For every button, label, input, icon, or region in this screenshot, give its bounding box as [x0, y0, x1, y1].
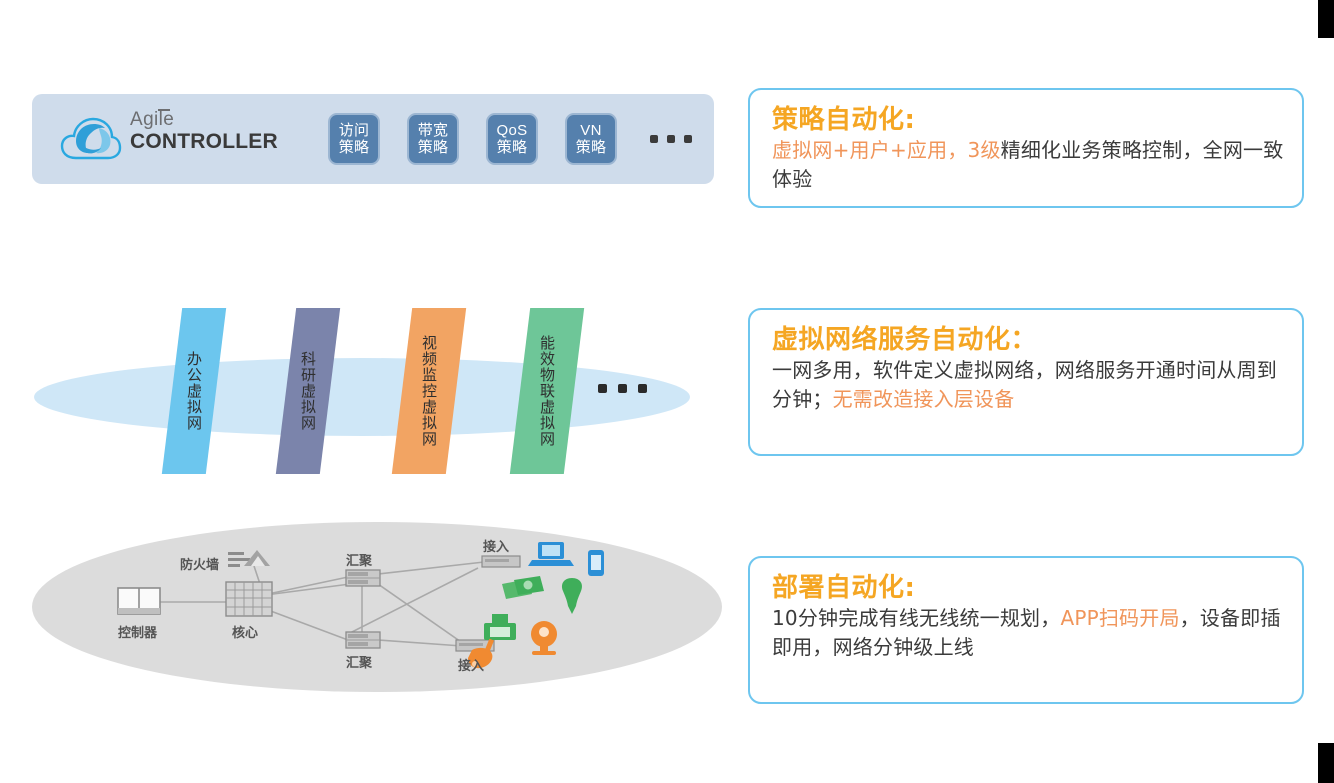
policy-label-line1: 访问 — [339, 122, 370, 139]
right-edge-bar-top — [1318, 0, 1334, 38]
card-body-plain-1: 10分钟完成有线无线统一规划， — [772, 606, 1060, 630]
vn-slice-label: 办公虚拟网 — [185, 351, 203, 431]
webcam-icon — [531, 621, 557, 655]
access-switch-upper-icon — [482, 556, 520, 567]
topology-links-and-devices — [32, 522, 722, 692]
virtual-network-slices-diagram: 办公虚拟网 科研虚拟网 视频监控虚拟网 能效物联虚拟网 — [20, 296, 720, 496]
virtual-network-service-automation-card: 虚拟网络服务自动化： 一网多用，软件定义虚拟网络，网络服务开通时间从周到分钟；无… — [748, 308, 1304, 456]
right-edge-bar-bottom — [1318, 743, 1334, 783]
aggregation-switch-lower-icon — [346, 632, 380, 648]
policy-button-row: 访问 策略 带宽 策略 QoS 策略 VN 策略 — [328, 110, 692, 168]
vn-slice-video-surveillance: 视频监控虚拟网 — [392, 308, 466, 474]
slide-canvas: Agile CONTROLLER 访问 策略 带宽 策略 QoS 策略 VN 策… — [0, 0, 1334, 783]
deployment-automation-card: 部署自动化: 10分钟完成有线无线统一规划，APP扫码开局，设备即插即用，网络分… — [748, 556, 1304, 704]
aggregation-switch-upper-icon — [346, 570, 380, 586]
dot — [618, 384, 627, 393]
policy-label-line2: 策略 — [497, 139, 528, 156]
macron-accent — [158, 109, 170, 111]
policy-automation-card: 策略自动化: 虚拟网+用户+应用，3级精细化业务策略控制，全网一致体验 — [748, 88, 1304, 208]
topology-label-firewall: 防火墙 — [180, 554, 219, 573]
agile-controller-bar: Agile CONTROLLER 访问 策略 带宽 策略 QoS 策略 VN 策… — [32, 94, 714, 184]
vn-slice-label: 能效物联虚拟网 — [538, 335, 556, 447]
dot — [667, 135, 675, 143]
policy-button-qos[interactable]: QoS 策略 — [486, 113, 538, 165]
core-switch-device-icon — [226, 582, 272, 616]
card-title: 部署自动化: — [772, 572, 1284, 604]
vn-more-ellipsis-icon — [598, 384, 647, 393]
vn-slice-label: 科研虚拟网 — [299, 351, 317, 431]
card-body: 10分钟完成有线无线统一规划，APP扫码开局，设备即插即用，网络分钟级上线 — [772, 604, 1284, 662]
vn-slice-energy-iot: 能效物联虚拟网 — [510, 308, 584, 474]
logo-brand-bottom: CONTROLLER — [130, 130, 278, 154]
firewall-device-icon — [228, 550, 270, 567]
policy-more-ellipsis-icon — [650, 135, 692, 143]
logo-wordmark: Agile CONTROLLER — [130, 110, 278, 154]
dot — [598, 384, 607, 393]
card-title: 虚拟网络服务自动化： — [772, 324, 1284, 356]
topology-label-controller: 控制器 — [118, 622, 157, 641]
policy-label-line1: QoS — [497, 122, 528, 139]
card-body: 一网多用，软件定义虚拟网络，网络服务开通时间从周到分钟；无需改造接入层设备 — [772, 356, 1284, 414]
smartphone-icon — [588, 550, 604, 576]
light-bulb-icon — [562, 578, 582, 614]
logo-brand-top: Agile — [130, 110, 278, 130]
policy-label-line1: 带宽 — [418, 122, 449, 139]
agile-controller-logo: Agile CONTROLLER — [60, 110, 310, 168]
policy-label-line2: 策略 — [576, 139, 607, 156]
printer-icon — [484, 614, 516, 640]
policy-label-line1: VN — [580, 122, 601, 139]
banknotes-icon — [502, 576, 544, 599]
dot — [684, 135, 692, 143]
dot — [650, 135, 658, 143]
card-body-highlight: APP扫码开局 — [1060, 606, 1179, 630]
topology-label-aggregation-lower: 汇聚 — [346, 652, 372, 671]
card-body-highlight: 无需改造接入层设备 — [833, 387, 1015, 411]
policy-button-vn[interactable]: VN 策略 — [565, 113, 617, 165]
policy-label-line2: 策略 — [339, 139, 370, 156]
policy-button-bandwidth[interactable]: 带宽 策略 — [407, 113, 459, 165]
topology-label-access-upper: 接入 — [483, 536, 509, 555]
controller-device-icon — [118, 588, 160, 614]
laptop-icon — [528, 542, 574, 566]
card-title: 策略自动化: — [772, 104, 1284, 136]
network-topology-diagram: 控制器 防火墙 核心 汇聚 汇聚 接入 接入 — [32, 522, 722, 692]
policy-button-access[interactable]: 访问 策略 — [328, 113, 380, 165]
topology-label-access-lower: 接入 — [458, 655, 484, 674]
network-backbone-ellipse — [34, 358, 690, 436]
card-body: 虚拟网+用户+应用，3级精细化业务策略控制，全网一致体验 — [772, 136, 1284, 194]
dot — [638, 384, 647, 393]
vn-slice-label: 视频监控虚拟网 — [420, 335, 438, 447]
topology-label-core: 核心 — [232, 622, 258, 641]
topology-links — [160, 562, 484, 646]
cloud-swirl-icon — [60, 114, 122, 162]
card-body-highlight: 虚拟网+用户+应用，3级 — [772, 138, 1001, 162]
policy-label-line2: 策略 — [418, 139, 449, 156]
topology-label-aggregation-upper: 汇聚 — [346, 550, 372, 569]
